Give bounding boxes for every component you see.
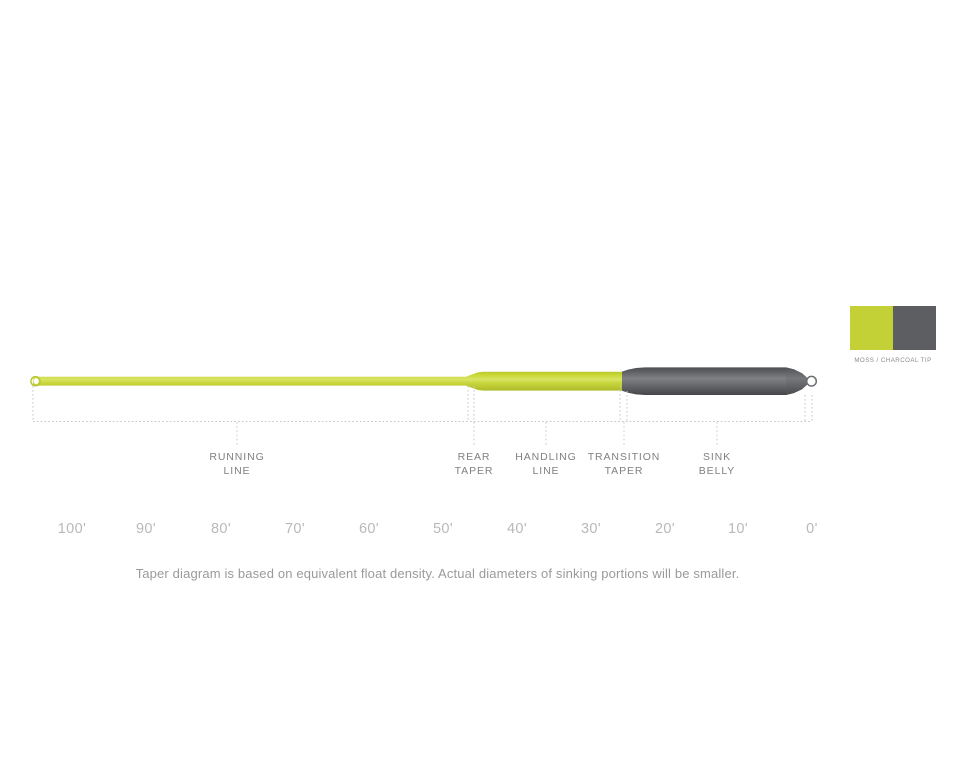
running-line-loop-icon bbox=[31, 377, 40, 386]
diagram-caption: Taper diagram is based on equivalent flo… bbox=[0, 566, 875, 581]
section-label-line2: LINE bbox=[157, 464, 317, 478]
axis-tick-label: 10' bbox=[728, 521, 748, 537]
axis-tick-40: 40' bbox=[477, 521, 557, 537]
axis-tick-80: 80' bbox=[181, 521, 261, 537]
axis-tick-label: 100' bbox=[58, 521, 87, 537]
axis-tick-0: 0' bbox=[772, 521, 852, 537]
axis-tick-label: 50' bbox=[433, 521, 453, 537]
sink-tip-loop-icon bbox=[807, 376, 817, 386]
axis-tick-30: 30' bbox=[551, 521, 631, 537]
axis-tick-label: 0' bbox=[806, 521, 818, 537]
charcoal-sink-tip-body bbox=[622, 367, 807, 395]
section-label-line1: RUNNING bbox=[157, 450, 317, 464]
section-label-line2: BELLY bbox=[657, 464, 777, 478]
axis-tick-100: 100' bbox=[32, 521, 112, 537]
moss-line-body bbox=[33, 372, 624, 391]
axis-tick-50: 50' bbox=[403, 521, 483, 537]
legend-swatch bbox=[850, 306, 936, 350]
section-label-running-line: RUNNING LINE bbox=[157, 450, 317, 478]
axis-tick-label: 90' bbox=[136, 521, 156, 537]
taper-diagram: RUNNING LINE REAR TAPER HANDLING LINE TR… bbox=[0, 0, 960, 768]
section-label-sink-belly: SINK BELLY bbox=[657, 450, 777, 478]
axis-tick-label: 30' bbox=[581, 521, 601, 537]
legend-caption: MOSS / CHARCOAL TIP bbox=[843, 357, 943, 364]
axis-tick-20: 20' bbox=[625, 521, 705, 537]
axis-tick-label: 80' bbox=[211, 521, 231, 537]
legend-swatch-charcoal bbox=[893, 306, 936, 350]
axis-tick-60: 60' bbox=[329, 521, 409, 537]
section-label-line1: SINK bbox=[657, 450, 777, 464]
axis-tick-70: 70' bbox=[255, 521, 335, 537]
section-drop-lines bbox=[33, 386, 812, 421]
legend-swatch-moss bbox=[850, 306, 893, 350]
axis-tick-label: 60' bbox=[359, 521, 379, 537]
color-legend: MOSS / CHARCOAL TIP bbox=[843, 306, 943, 364]
axis-tick-label: 70' bbox=[285, 521, 305, 537]
axis-tick-label: 20' bbox=[655, 521, 675, 537]
taper-profile-graphic bbox=[0, 0, 960, 768]
axis-tick-90: 90' bbox=[106, 521, 186, 537]
axis-tick-label: 40' bbox=[507, 521, 527, 537]
axis-tick-10: 10' bbox=[698, 521, 778, 537]
section-leader-lines bbox=[237, 422, 717, 446]
